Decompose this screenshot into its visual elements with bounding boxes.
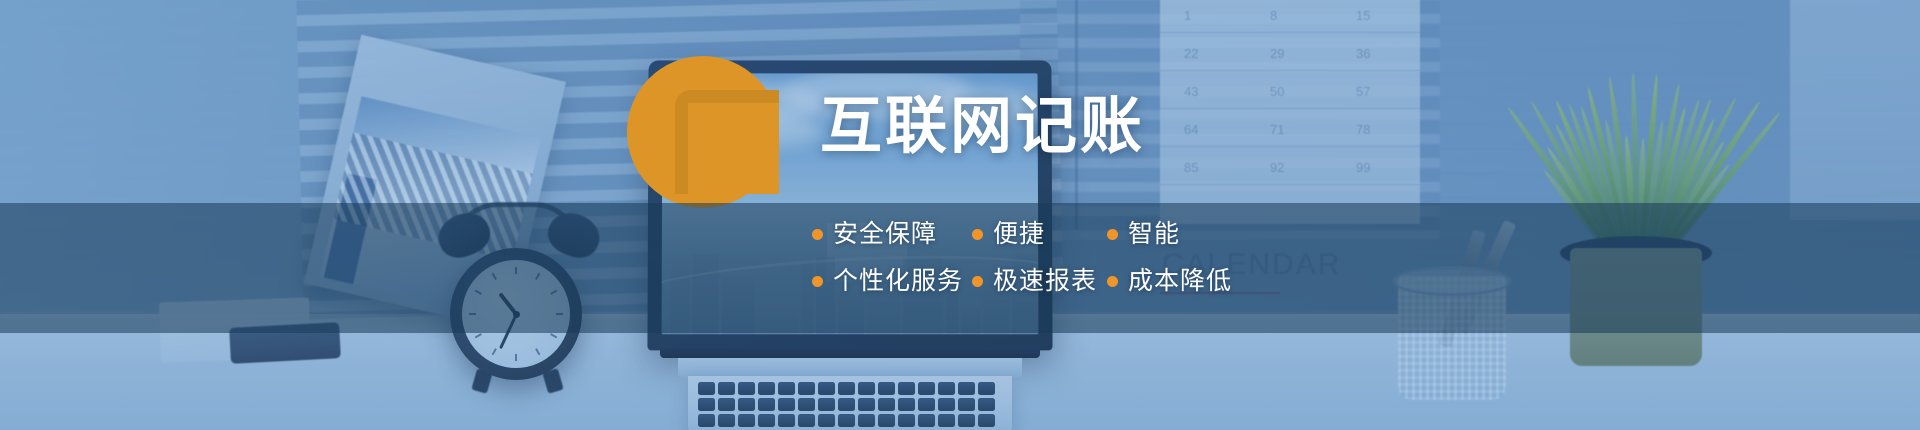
feature-label: 安全保障 xyxy=(833,222,937,247)
feature-item-intelligent[interactable]: 智能 xyxy=(1107,222,1180,247)
banner-content: 互联网记账 安全保障 便捷 智能 个性化服务 xyxy=(0,0,1920,430)
marketing-banner: 1815222936435057647178859299 CALENDAR xyxy=(0,0,1920,430)
feature-row-2: 个性化服务 极速报表 成本降低 xyxy=(812,269,1332,294)
feature-item-security[interactable]: 安全保障 xyxy=(812,222,972,247)
banner-title: 互联网记账 xyxy=(820,96,1145,158)
bullet-dot-icon xyxy=(1107,276,1118,287)
bullet-dot-icon xyxy=(812,276,823,287)
bullet-dot-icon xyxy=(1107,229,1118,240)
feature-item-convenient[interactable]: 便捷 xyxy=(972,222,1107,247)
feature-label: 智能 xyxy=(1128,222,1180,247)
feature-row-1: 安全保障 便捷 智能 xyxy=(812,222,1332,247)
feature-item-cost-reduction[interactable]: 成本降低 xyxy=(1107,269,1232,294)
feature-label: 个性化服务 xyxy=(833,269,963,294)
feature-label: 成本降低 xyxy=(1128,269,1232,294)
bullet-dot-icon xyxy=(972,276,983,287)
feature-label: 极速报表 xyxy=(993,269,1097,294)
bullet-dot-icon xyxy=(972,229,983,240)
feature-label: 便捷 xyxy=(993,222,1045,247)
bullet-dot-icon xyxy=(812,229,823,240)
feature-item-personalized-service[interactable]: 个性化服务 xyxy=(812,269,972,294)
feature-list: 安全保障 便捷 智能 个性化服务 极速报表 xyxy=(812,222,1332,294)
feature-item-fast-reports[interactable]: 极速报表 xyxy=(972,269,1107,294)
